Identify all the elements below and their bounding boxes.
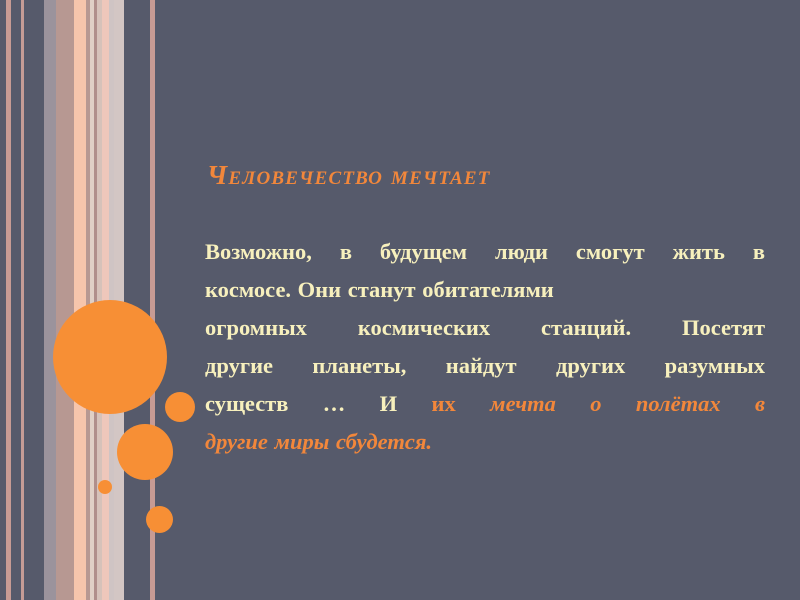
- circle-dot: [98, 480, 112, 494]
- body-line-2: космосе. Они станут обитателями: [205, 271, 765, 309]
- circle-medium: [117, 424, 173, 480]
- body-line-6: другие миры сбудется.: [205, 423, 765, 461]
- slide-body-text: Возможно, в будущем люди смогут жить в к…: [205, 233, 765, 461]
- body-line-5-accent: их: [432, 391, 491, 416]
- stripe-dark-4: [124, 0, 150, 600]
- circle-small: [165, 392, 195, 422]
- page-title: Человечество мечтает: [207, 160, 765, 191]
- circle-large: [53, 300, 167, 414]
- slide-canvas: Человечество мечтает Возможно, в будущем…: [0, 0, 800, 600]
- body-line-1: Возможно, в будущем люди смогут жить в: [205, 233, 765, 271]
- stripe-dark-2: [11, 0, 21, 600]
- stripe-dark-3: [24, 0, 44, 600]
- circle-xsmall: [146, 506, 173, 533]
- body-line-5-accent-italic: мечта о полётах в: [490, 391, 765, 416]
- body-line-5: существ … И их мечта о полётах в: [205, 385, 765, 423]
- body-line-4: другие планеты, найдут других разумных: [205, 347, 765, 385]
- body-line-5-plain: существ … И: [205, 391, 432, 416]
- stripe-peach-1: [74, 0, 86, 600]
- slide-text-block: Человечество мечтает Возможно, в будущем…: [205, 160, 765, 461]
- body-line-3: огромных космических станций. Посетят: [205, 309, 765, 347]
- stripe-mauve-1: [44, 0, 56, 600]
- stripe-rose-3: [56, 0, 72, 600]
